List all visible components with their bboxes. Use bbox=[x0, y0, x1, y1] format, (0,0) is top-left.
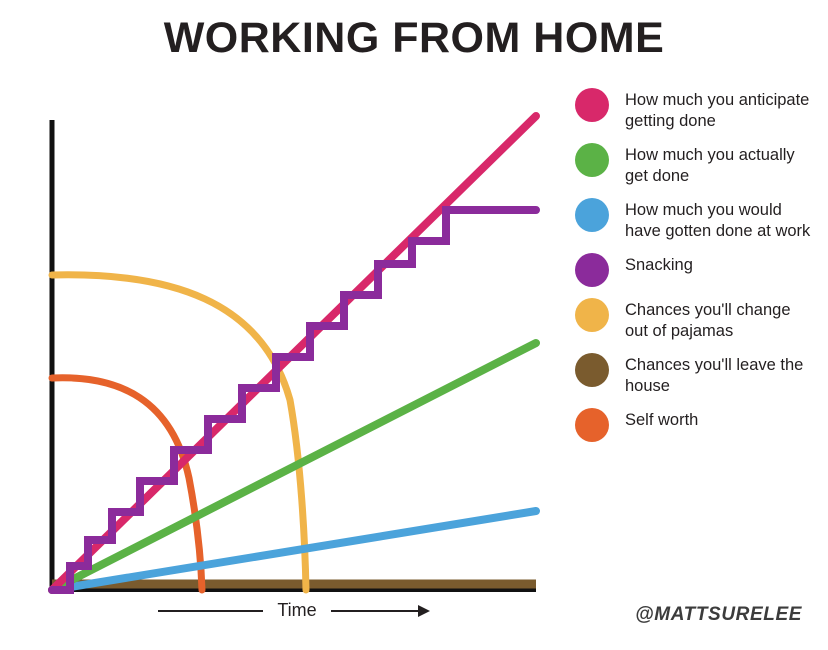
legend-item-label: How much you actually get done bbox=[625, 143, 815, 187]
axis-caption-rule-right bbox=[331, 610, 419, 612]
infographic-root: WORKING FROM HOME Time How much you anti… bbox=[0, 0, 828, 650]
series-self-worth bbox=[52, 378, 202, 590]
legend-item-actually-get-done[interactable]: How much you actually get done bbox=[575, 143, 825, 187]
legend-swatch-icon bbox=[575, 253, 609, 287]
legend-item-anticipate-getting-done[interactable]: How much you anticipate getting done bbox=[575, 88, 825, 132]
legend-item-label: How much you would have gotten done at w… bbox=[625, 198, 815, 242]
legend-item-snacking[interactable]: Snacking bbox=[575, 253, 825, 287]
legend-item-label: Self worth bbox=[625, 408, 698, 431]
legend-item-label: Chances you'll change out of pajamas bbox=[625, 298, 815, 342]
series-snacking bbox=[52, 210, 536, 590]
legend-item-label: Snacking bbox=[625, 253, 693, 276]
legend-item-would-have-gotten-done-at-work[interactable]: How much you would have gotten done at w… bbox=[575, 198, 825, 242]
legend-swatch-icon bbox=[575, 198, 609, 232]
legend-item-label: How much you anticipate getting done bbox=[625, 88, 815, 132]
legend-swatch-icon bbox=[575, 88, 609, 122]
attribution-handle: @MATTSURELEE bbox=[635, 604, 802, 626]
arrow-right-icon bbox=[418, 605, 430, 617]
legend-item-self-worth[interactable]: Self worth bbox=[575, 408, 825, 442]
legend-swatch-icon bbox=[575, 298, 609, 332]
chart-legend: How much you anticipate getting done How… bbox=[575, 88, 825, 453]
legend-item-leave-the-house[interactable]: Chances you'll leave the house bbox=[575, 353, 825, 397]
x-axis-label: Time bbox=[263, 600, 330, 621]
x-axis-caption: Time bbox=[52, 600, 536, 621]
axis-caption-rule-left bbox=[158, 610, 263, 612]
legend-swatch-icon bbox=[575, 408, 609, 442]
legend-swatch-icon bbox=[575, 353, 609, 387]
legend-swatch-icon bbox=[575, 143, 609, 177]
legend-item-change-out-of-pajamas[interactable]: Chances you'll change out of pajamas bbox=[575, 298, 825, 342]
legend-item-label: Chances you'll leave the house bbox=[625, 353, 815, 397]
